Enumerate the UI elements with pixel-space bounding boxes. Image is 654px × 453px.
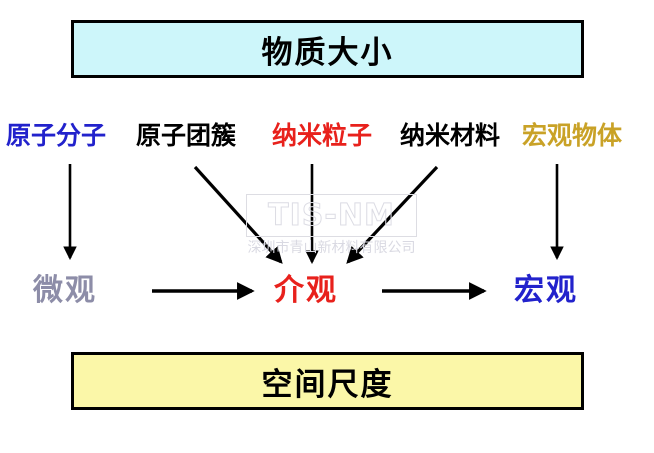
bottom-title-box: 空间尺度 (71, 352, 584, 410)
domain-label-mesoscopic: 介观 (274, 272, 338, 310)
watermark-frame (246, 194, 417, 237)
scale-label-macroscopic-objects: 宏观物体 (522, 120, 622, 152)
scale-label-atomic-clusters: 原子团簇 (136, 120, 236, 152)
top-title-box-label: 物质大小 (262, 27, 394, 72)
watermark-company-text: 深圳市青山新材料有限公司 (246, 237, 417, 257)
domain-label-microscopic: 微观 (33, 272, 97, 310)
scale-label-nanoparticles: 纳米粒子 (272, 120, 372, 152)
scale-label-atoms-molecules: 原子分子 (6, 120, 106, 152)
diagram-canvas: 物质大小 原子分子 原子团簇 纳米粒子 纳米材料 宏观物体 TIS-NM 深圳市… (0, 0, 654, 453)
scale-label-nanomaterials: 纳米材料 (400, 120, 500, 152)
arrow-clusters-to-meso (195, 167, 281, 262)
arrow-nanomaterials-to-meso (348, 167, 437, 262)
top-title-box: 物质大小 (71, 20, 584, 78)
bottom-title-box-label: 空间尺度 (262, 359, 394, 404)
watermark-brand-text: TIS-NM (246, 194, 417, 237)
domain-label-macroscopic: 宏观 (514, 272, 578, 310)
watermark: TIS-NM 深圳市青山新材料有限公司 (246, 194, 417, 262)
